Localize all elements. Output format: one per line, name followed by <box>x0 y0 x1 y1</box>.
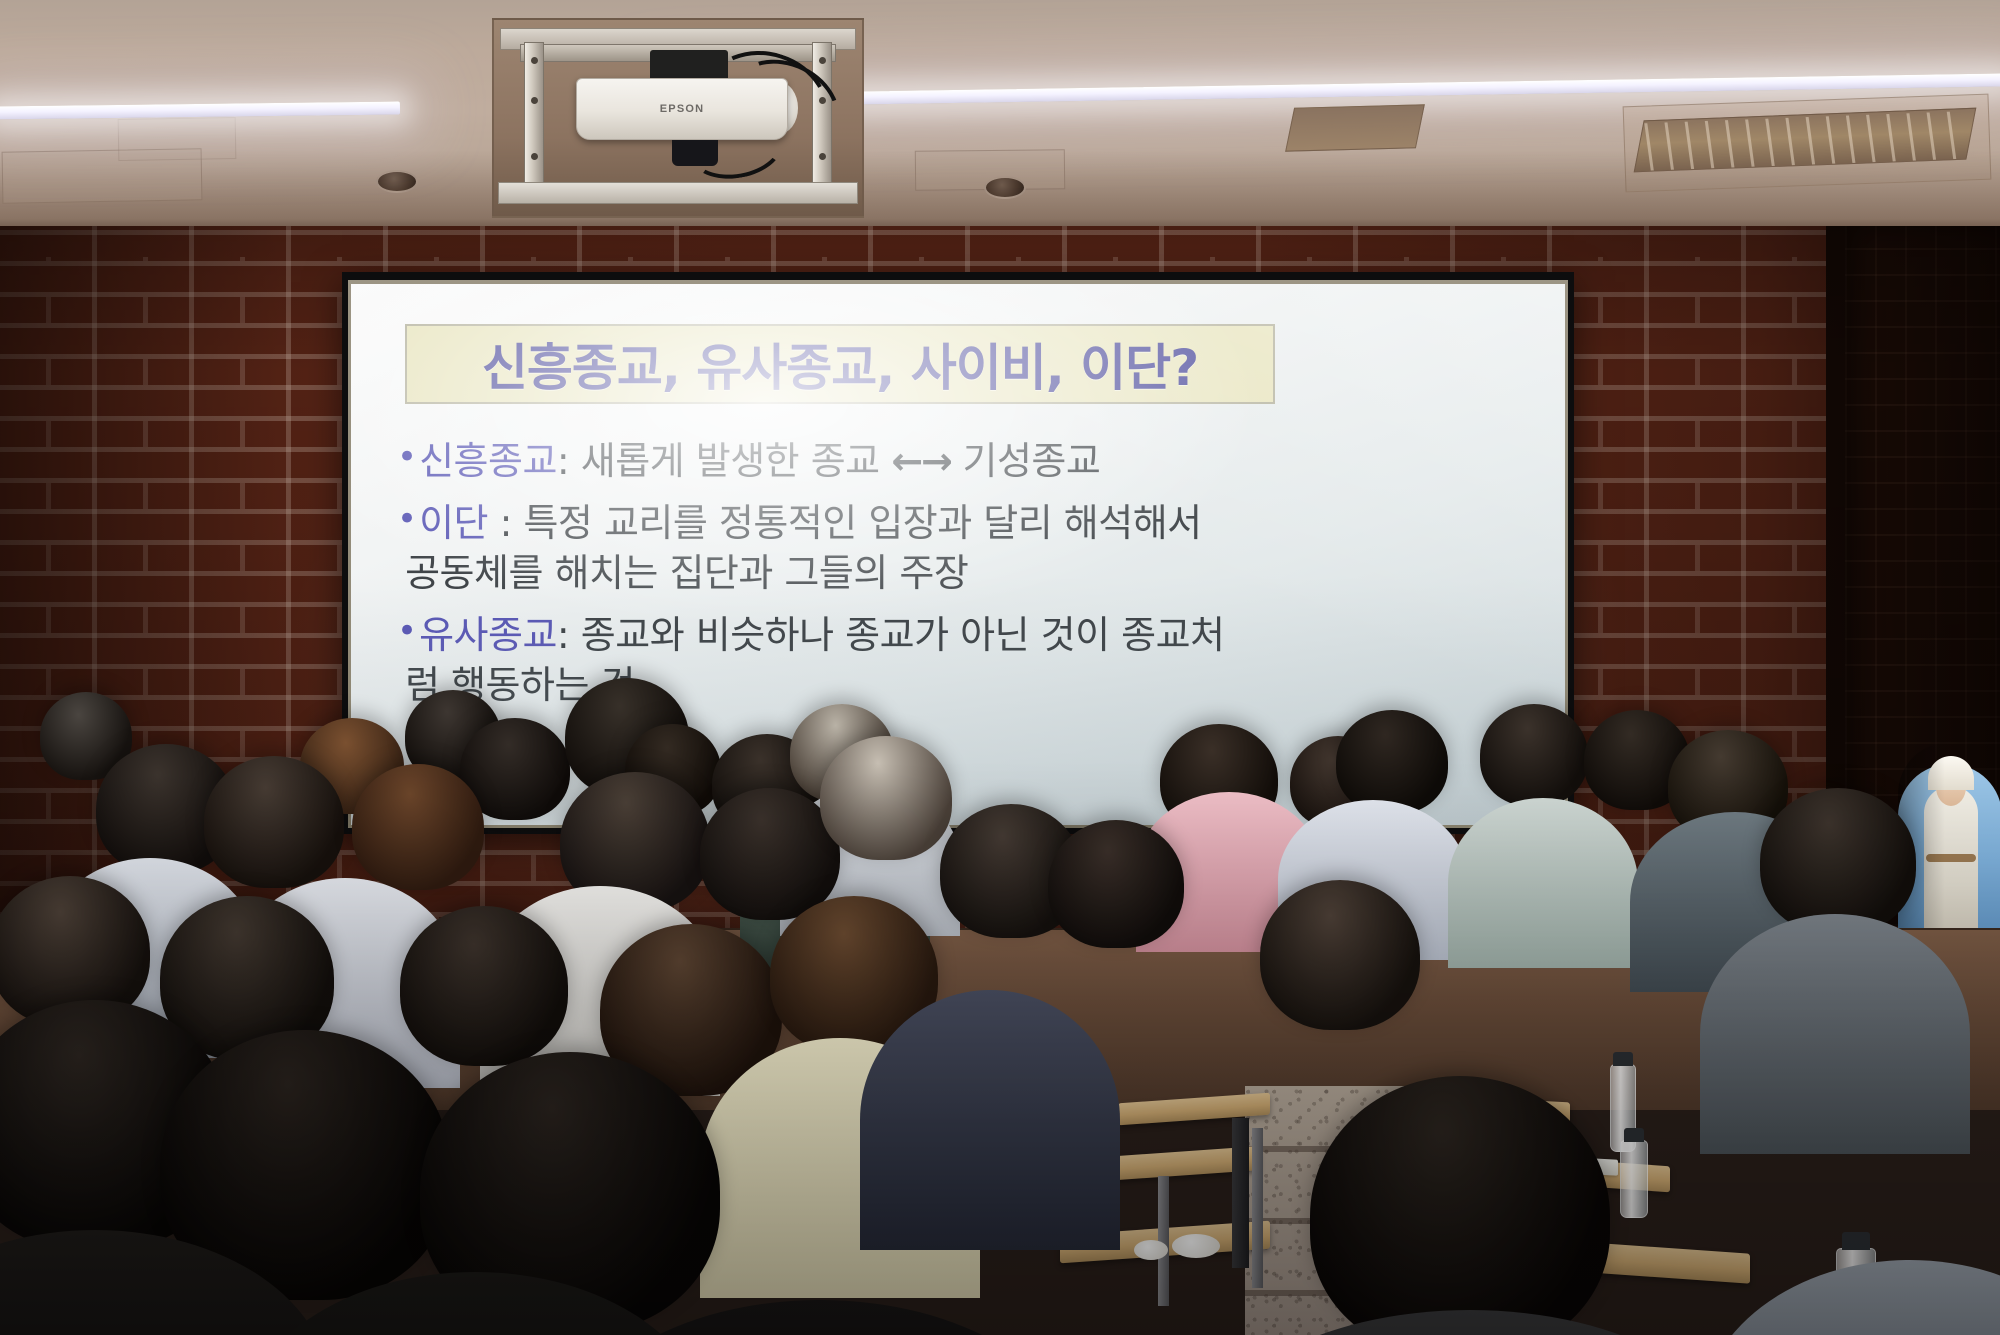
bullet-separator: : <box>557 613 581 657</box>
audience-shoulders <box>1448 798 1638 968</box>
bullet-dot-icon: • <box>397 498 417 540</box>
bidirectional-arrow-icon: ←→ <box>891 439 951 483</box>
slide-bullet-text: 신흥종교: 새롭게 발생한 종교 ←→ 기성종교 <box>419 436 1100 486</box>
audience-shoulders <box>1190 1310 1750 1335</box>
bullet-keyword: 신흥종교 <box>419 439 557 483</box>
slide-bullet-text: 유사종교: 종교와 비슷하나 종교가 아닌 것이 종교처럼 행동하는 것 <box>419 610 1224 710</box>
slide-bullet-list: • 신흥종교: 새롭게 발생한 종교 ←→ 기성종교 • 이단 : 특정 교리를… <box>397 436 1525 722</box>
audience-shoulders <box>1700 1260 2000 1335</box>
audience-head <box>700 788 840 920</box>
bullet-continuation: 공동체를 해치는 집단과 그들의 주장 <box>405 548 1202 598</box>
bullet-body: 특정 교리를 정통적인 입장과 달리 해석해서 <box>523 501 1201 545</box>
slide-bullet-item: • 신흥종교: 새롭게 발생한 종교 ←→ 기성종교 <box>397 436 1525 486</box>
bullet-dot-icon: • <box>397 610 417 652</box>
audience-head <box>1760 788 1916 934</box>
audience-shoulders <box>860 990 1120 1250</box>
audience-head <box>352 764 484 890</box>
projector-brand-label: EPSON <box>660 103 705 115</box>
slide-bullet-item: • 유사종교: 종교와 비슷하나 종교가 아닌 것이 종교처럼 행동하는 것 <box>397 610 1525 710</box>
bullet-separator: : <box>557 439 581 483</box>
audience-head <box>400 906 568 1066</box>
slide-bullet-item: • 이단 : 특정 교리를 정통적인 입장과 달리 해석해서공동체를 해치는 집… <box>397 498 1525 598</box>
bullet-body: 종교와 비슷하나 종교가 아닌 것이 종교처 <box>581 613 1225 657</box>
recessed-downlight-icon <box>376 170 418 193</box>
slide-title-box: 신흥종교, 유사종교, 사이비, 이단? <box>405 324 1275 404</box>
bullet-body: 새롭게 발생한 종교 <box>581 439 891 483</box>
audience-head <box>820 736 952 860</box>
audience-head <box>1480 704 1588 806</box>
lecture-hall-scene: EPSON 신흥종교, 유사종교, 사이비, 이단? • 신흥종교: 새롭게 발… <box>0 0 2000 1335</box>
recessed-downlight-icon <box>984 176 1026 199</box>
bullet-dot-icon: • <box>397 436 417 478</box>
slide-bullet-text: 이단 : 특정 교리를 정통적인 입장과 달리 해석해서공동체를 해치는 집단과… <box>419 498 1202 598</box>
bullet-keyword: 유사종교 <box>419 613 557 657</box>
audience-head <box>1336 710 1448 814</box>
audience-head <box>1310 1076 1610 1335</box>
audience-head <box>1260 880 1420 1030</box>
audience-shoulders <box>1700 914 1970 1154</box>
slide-title: 신흥종교, 유사종교, 사이비, 이단? <box>482 328 1198 400</box>
bullet-separator: : <box>488 501 523 545</box>
audience <box>0 700 2000 1335</box>
audience-head <box>204 756 344 888</box>
bullet-keyword: 이단 <box>419 501 488 545</box>
ceiling-access-hatch <box>118 117 237 161</box>
hvac-vent-grille-small <box>1285 104 1425 151</box>
projector-lift-shelf <box>498 182 858 204</box>
audience-head <box>1048 820 1184 948</box>
projector-lift-post <box>524 42 544 204</box>
bullet-tail: 기성종교 <box>951 439 1100 483</box>
